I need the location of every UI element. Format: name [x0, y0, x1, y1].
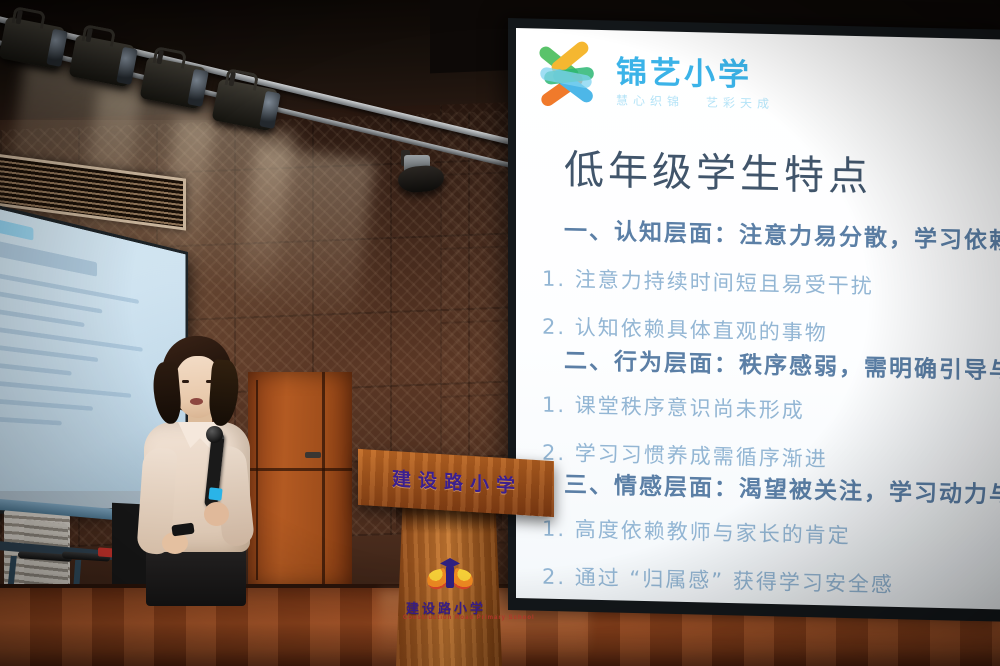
podium-school-name-en: Construction Road Primary School [403, 615, 535, 621]
section-heading: 一、认知层面：注意力易分散，学习依赖 [564, 211, 1000, 256]
presenter-mouth [190, 398, 203, 405]
presenter [128, 336, 260, 600]
secondary-display-title [0, 233, 97, 277]
presenter-hair-right [208, 359, 241, 427]
slide-section-3: 三、情感层面：渴望被关注，学习动力与 1. 高度依赖教师与家长的肯定 2. 通过… [542, 465, 1000, 602]
microphone-head [206, 426, 223, 443]
section-item: 2. 通过 “归属感” 获得学习安全感 [542, 561, 1000, 602]
section-item: 1. 注意力持续时间短且易受干扰 [542, 263, 1000, 304]
presenter-hand-right [204, 502, 229, 526]
woven-ribbon-logo-icon [534, 48, 602, 112]
slide-title: 低年级学生特点 [564, 137, 872, 202]
brand-tagline: 慧心织锦 艺彩天成 [616, 94, 774, 110]
slide-section-2: 二、行为层面：秩序感弱，需明确引导与 1. 课堂秩序意识尚未形成 2. 学习习惯… [542, 341, 1000, 478]
slide-header: 锦艺小学 慧心织锦 艺彩天成 [534, 48, 774, 116]
presentation-slide: 锦艺小学 慧心织锦 艺彩天成 低年级学生特点 一、认知层面：注意力易分散，学习依… [516, 28, 1000, 610]
microphone-band [208, 487, 222, 500]
brand-name: 锦艺小学 [616, 57, 774, 92]
wooden-door[interactable] [248, 372, 352, 588]
auditorium-scene: 锦艺小学 慧心织锦 艺彩天成 低年级学生特点 一、认知层面：注意力易分散，学习依… [0, 0, 1000, 666]
projection-screen: 锦艺小学 慧心织锦 艺彩天成 低年级学生特点 一、认知层面：注意力易分散，学习依… [516, 28, 1000, 610]
presenter-hair-left [151, 361, 182, 425]
section-item: 1. 高度依赖教师与家长的肯定 [542, 513, 1000, 554]
brand-tagline-left: 慧心织锦 [616, 94, 684, 108]
secondary-display-logo [0, 211, 33, 241]
brand-tagline-right: 艺彩天成 [706, 96, 774, 110]
section-item: 1. 课堂秩序意识尚未形成 [542, 389, 1000, 430]
presenter-skirt [146, 546, 246, 606]
slide-section-1: 一、认知层面：注意力易分散，学习依赖 1. 注意力持续时间短且易受干扰 2. 认… [542, 211, 1000, 352]
brand-block: 锦艺小学 慧心织锦 艺彩天成 [616, 57, 774, 110]
graduation-cap-wings-emblem-icon [428, 556, 472, 596]
door-handle[interactable] [305, 452, 321, 458]
